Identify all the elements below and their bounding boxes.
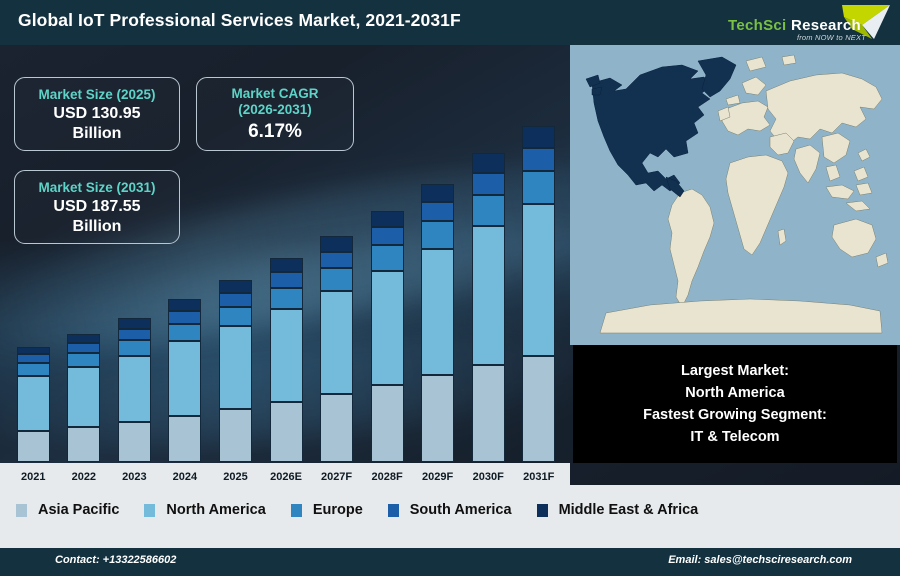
bar-column	[8, 112, 59, 462]
legend-label: Europe	[313, 502, 363, 518]
bar-segment	[168, 416, 201, 462]
bar-column	[513, 112, 564, 462]
legend-swatch	[144, 504, 155, 517]
bar-segment	[371, 385, 404, 462]
legend-item[interactable]: Asia Pacific	[16, 502, 119, 518]
legend-item[interactable]: Middle East & Africa	[537, 502, 699, 518]
x-axis-tick-label: 2026E	[261, 471, 312, 483]
bar-segment	[421, 221, 454, 249]
bar-segment	[168, 311, 201, 324]
x-axis-tick-label: 2029F	[412, 471, 463, 483]
x-axis-tick-label: 2022	[59, 471, 110, 483]
bar-segment	[270, 402, 303, 462]
header-bar: Global IoT Professional Services Market,…	[0, 0, 900, 45]
bar-column	[463, 112, 514, 462]
infographic-page: Global IoT Professional Services Market,…	[0, 0, 900, 576]
bar-segment	[270, 309, 303, 401]
indonesia-shape	[826, 185, 854, 199]
bar-segment	[168, 341, 201, 415]
x-axis-tick-label: 2025	[210, 471, 261, 483]
bar-column	[109, 112, 160, 462]
chart-legend: Asia PacificNorth AmericaEuropeSouth Ame…	[0, 485, 900, 535]
bar-segment	[219, 326, 252, 409]
bar-segment	[67, 334, 100, 343]
stacked-bar	[270, 258, 303, 462]
philippines-shape	[854, 167, 868, 181]
bar-segment	[67, 367, 100, 427]
logo-text: TechSci Research	[728, 17, 861, 34]
kpi-unit: Billion	[15, 217, 179, 237]
bar-segment	[320, 268, 353, 291]
legend-item[interactable]: Europe	[291, 502, 363, 518]
bar-segment	[219, 307, 252, 326]
antarctica-shape	[600, 299, 882, 333]
bar-segment	[17, 431, 50, 462]
indochina-shape	[826, 165, 840, 181]
south-america-shape	[668, 189, 714, 307]
bar-segment	[472, 153, 505, 174]
bar-segment	[67, 353, 100, 367]
kpi-value: USD 130.95	[15, 103, 179, 124]
bar-segment	[67, 427, 100, 462]
bar-column	[59, 112, 110, 462]
footer-bar: Contact: +13322586602 Email: sales@techs…	[0, 548, 900, 576]
footer-contact: Contact: +13322586602	[55, 554, 176, 566]
logo-text-research: Research	[791, 17, 861, 34]
bar-segment	[522, 171, 555, 204]
bar-column	[362, 112, 413, 462]
bar-segment	[270, 288, 303, 310]
stacked-bar	[371, 211, 404, 462]
bar-segment	[219, 280, 252, 293]
bar-segment	[371, 227, 404, 245]
bar-segment	[472, 226, 505, 365]
bar-segment	[67, 343, 100, 353]
bar-segment	[219, 409, 252, 462]
kpi-label: Market Size (2031)	[15, 179, 179, 196]
bar-segment	[168, 299, 201, 311]
kpi-label: Market Size (2025)	[15, 86, 179, 103]
bar-segment	[472, 195, 505, 226]
new-guinea-shape	[846, 201, 870, 211]
stacked-bar	[522, 126, 555, 462]
bar-segment	[421, 202, 454, 221]
kpi-unit: Billion	[15, 124, 179, 144]
bar-segment	[118, 318, 151, 328]
techsci-research-logo: TechSci Research from NOW to NEXT	[722, 3, 892, 43]
africa-shape	[726, 155, 788, 255]
fastest-segment-value: IT & Telecom	[690, 426, 779, 448]
north-america-shape	[592, 65, 712, 191]
bar-column	[311, 112, 362, 462]
chart-bars	[8, 112, 564, 462]
bar-segment	[421, 249, 454, 375]
kpi-label-period: (2026-2031)	[197, 102, 353, 118]
bar-segment	[472, 365, 505, 462]
bar-segment	[320, 291, 353, 394]
key-findings-callout: Largest Market: North America Fastest Gr…	[573, 345, 897, 463]
bar-segment	[371, 211, 404, 228]
footer-email: Email: sales@techsciresearch.com	[668, 554, 852, 566]
legend-label: South America	[410, 502, 512, 518]
bar-segment	[472, 173, 505, 195]
logo-text-techsci: TechSci	[728, 17, 787, 34]
scandinavia-shape	[742, 77, 766, 95]
kpi-value: USD 187.55	[15, 196, 179, 217]
bar-segment	[371, 245, 404, 271]
bar-column	[160, 112, 211, 462]
japan-shape	[858, 149, 870, 161]
legend-label: North America	[166, 502, 265, 518]
bar-segment	[118, 422, 151, 462]
bar-segment	[522, 148, 555, 171]
legend-label: Middle East & Africa	[559, 502, 699, 518]
legend-item[interactable]: South America	[388, 502, 512, 518]
stacked-bar	[168, 299, 201, 462]
bar-segment	[522, 356, 555, 462]
australia-shape	[832, 219, 876, 257]
kpi-market-size-2031: Market Size (2031) USD 187.55 Billion	[14, 170, 180, 244]
bar-segment	[17, 363, 50, 376]
largest-market-value: North America	[685, 382, 784, 404]
x-axis-tick-label: 2030F	[463, 471, 514, 483]
new-zealand-shape	[876, 253, 888, 267]
borneo-shape	[856, 183, 872, 195]
india-shape	[794, 145, 820, 183]
logo-tagline: from NOW to NEXT	[797, 33, 866, 42]
bar-segment	[421, 375, 454, 462]
bar-column	[412, 112, 463, 462]
bar-segment	[118, 329, 151, 341]
stacked-bar	[118, 318, 151, 462]
kpi-market-size-2025: Market Size (2025) USD 130.95 Billion	[14, 77, 180, 151]
legend-swatch	[291, 504, 302, 517]
kpi-market-cagr: Market CAGR (2026-2031) 6.17%	[196, 77, 354, 151]
madagascar-shape	[778, 229, 786, 245]
fastest-segment-label: Fastest Growing Segment:	[643, 404, 827, 426]
x-axis-tick-label: 2028F	[362, 471, 413, 483]
x-axis-tick-label: 2031F	[513, 471, 564, 483]
bar-segment	[522, 126, 555, 148]
stacked-bar	[17, 347, 50, 462]
x-axis-tick-label: 2021	[8, 471, 59, 483]
bar-segment	[320, 236, 353, 251]
stacked-bar	[320, 236, 353, 462]
x-axis-tick-label: 2024	[160, 471, 211, 483]
bar-segment	[522, 204, 555, 355]
stacked-bar	[421, 184, 454, 462]
stacked-bar	[472, 153, 505, 462]
east-asia-shape	[822, 133, 850, 163]
bar-segment	[118, 340, 151, 355]
europe-shape	[722, 101, 770, 135]
bar-segment	[320, 252, 353, 269]
world-map-svg	[570, 45, 900, 345]
bar-segment	[17, 354, 50, 363]
legend-item[interactable]: North America	[144, 502, 265, 518]
bar-segment	[371, 271, 404, 385]
bar-segment	[421, 184, 454, 202]
stacked-bar	[219, 280, 252, 462]
stacked-bar	[67, 334, 100, 462]
bar-segment	[219, 293, 252, 307]
legend-label: Asia Pacific	[38, 502, 119, 518]
uk-shape	[726, 95, 740, 105]
world-map	[570, 45, 900, 345]
legend-swatch	[388, 504, 399, 517]
bar-segment	[118, 356, 151, 423]
bar-column	[261, 112, 312, 462]
x-axis-tick-label: 2027F	[311, 471, 362, 483]
bar-segment	[320, 394, 353, 462]
largest-market-label: Largest Market:	[681, 360, 789, 382]
x-axis-labels: 202120222023202420252026E2027F2028F2029F…	[8, 471, 564, 483]
arctic-island-shape	[782, 55, 796, 65]
bar-column	[210, 112, 261, 462]
page-title: Global IoT Professional Services Market,…	[18, 10, 461, 31]
bar-segment	[270, 272, 303, 287]
legend-swatch	[16, 504, 27, 517]
legend-swatch	[537, 504, 548, 517]
bar-segment	[17, 376, 50, 431]
kpi-label: Market CAGR	[197, 86, 353, 102]
bar-segment	[17, 347, 50, 355]
kpi-value: 6.17%	[197, 118, 353, 142]
x-axis-tick-label: 2023	[109, 471, 160, 483]
bar-segment	[168, 324, 201, 342]
iceland-svalbard-shape	[746, 57, 766, 71]
bar-segment	[270, 258, 303, 272]
